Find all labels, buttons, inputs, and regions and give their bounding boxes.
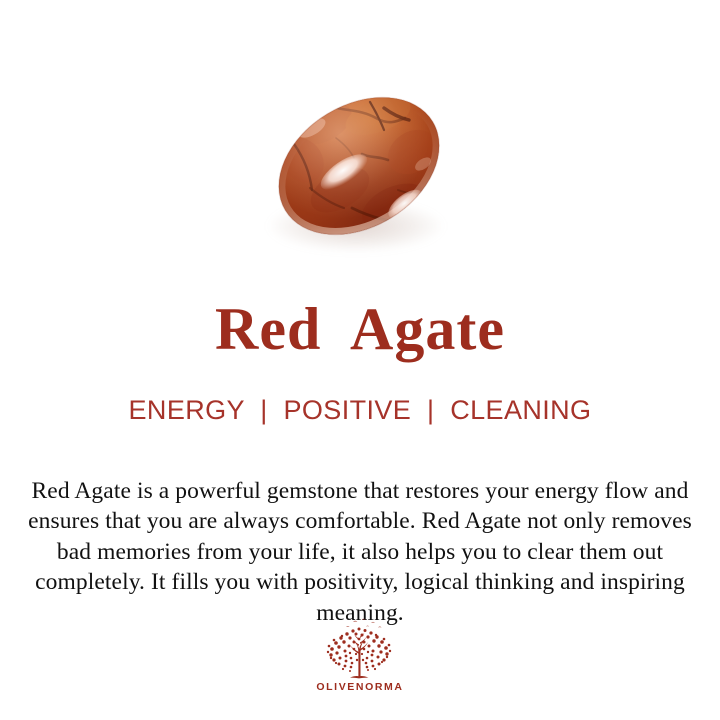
- gemstone-image-area: [0, 0, 720, 282]
- brand-name: OLIVENORMA: [310, 681, 410, 693]
- page-title: Red Agate: [0, 296, 720, 362]
- keyword-tagline: ENERGY | POSITIVE | CLEANING: [0, 394, 720, 426]
- gemstone-image: [258, 72, 458, 264]
- tree-icon: [317, 618, 403, 680]
- red-agate-stone-icon: [266, 78, 452, 254]
- description-text: Red Agate is a powerful gemstone that re…: [26, 476, 694, 629]
- product-info-card: Red Agate ENERGY | POSITIVE | CLEANING R…: [0, 0, 720, 720]
- brand-logo: OLIVENORMA: [310, 618, 410, 700]
